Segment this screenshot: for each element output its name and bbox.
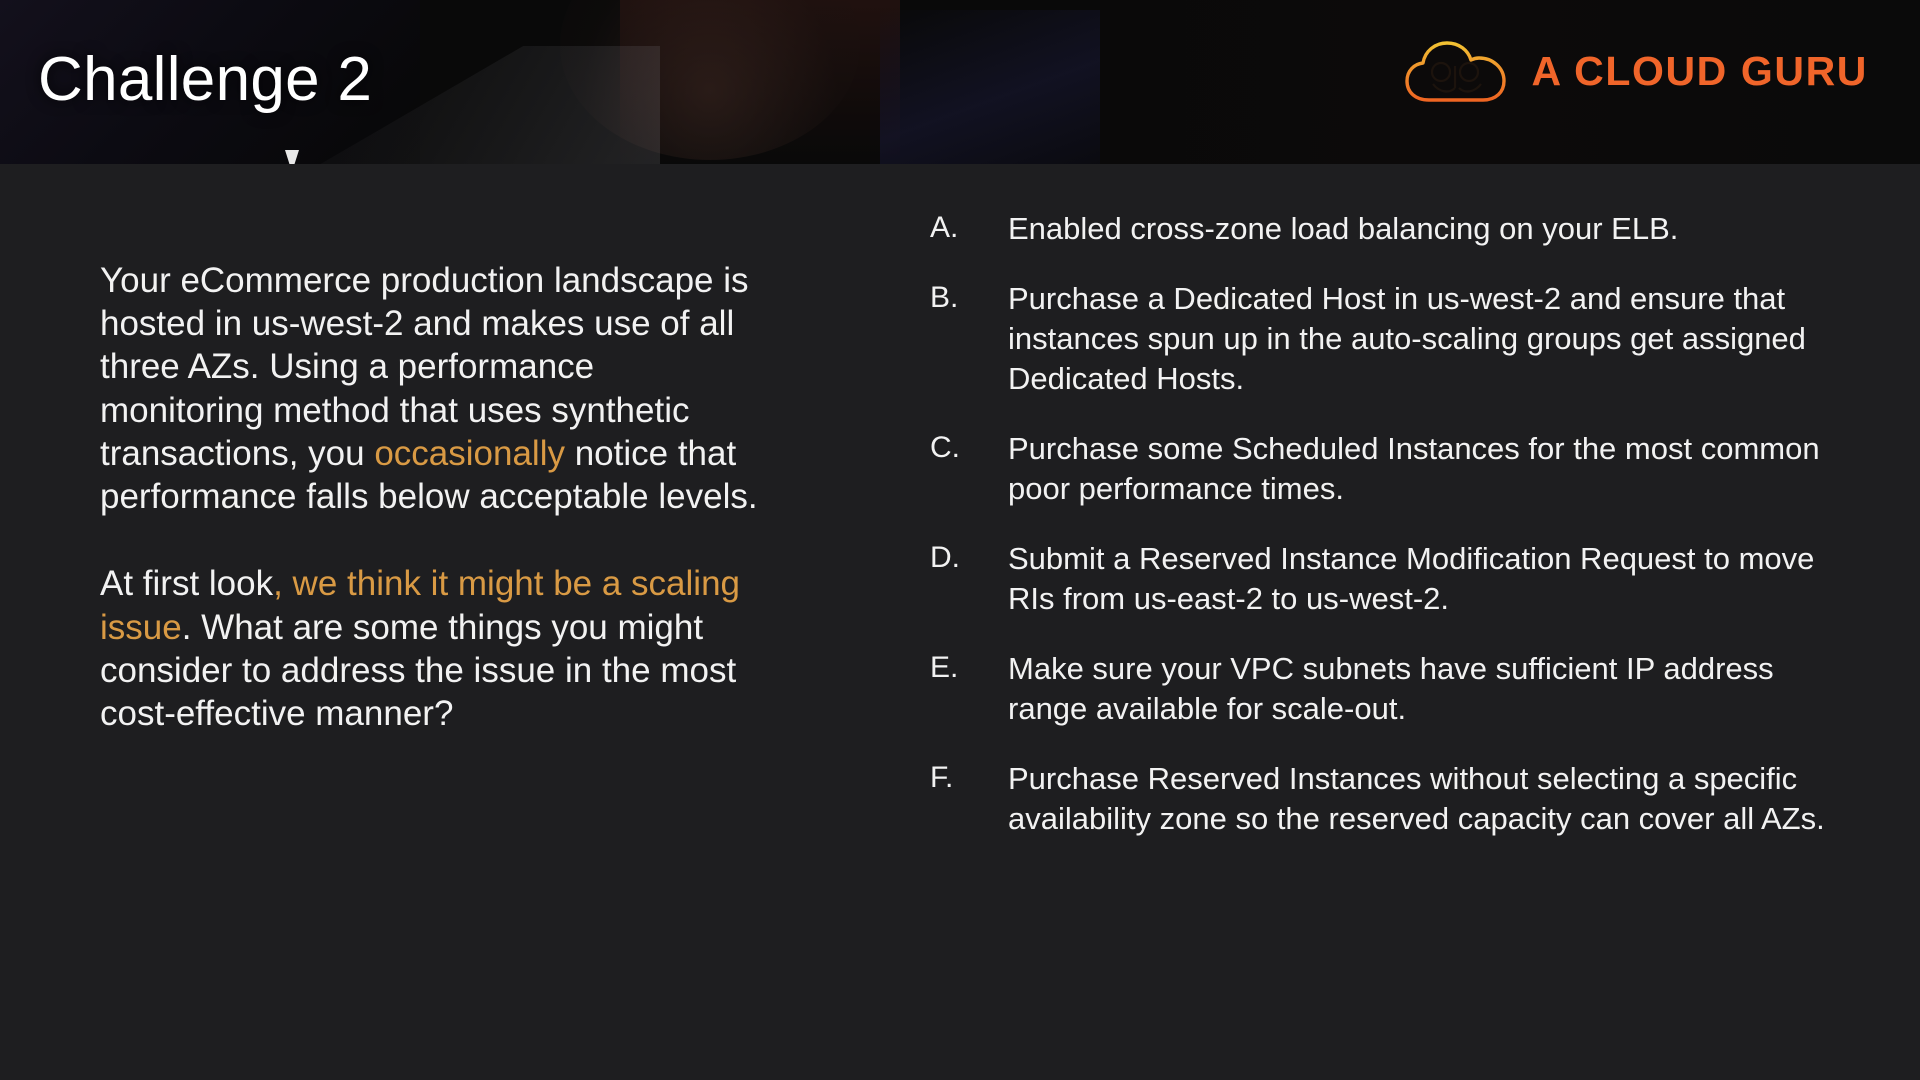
answer-options-list: A. Enabled cross-zone load balancing on … [930, 209, 1850, 869]
list-item[interactable]: B. Purchase a Dedicated Host in us-west-… [930, 279, 1850, 399]
list-item[interactable]: D. Submit a Reserved Instance Modificati… [930, 539, 1850, 619]
option-letter: C. [930, 429, 1008, 468]
list-item[interactable]: A. Enabled cross-zone load balancing on … [930, 209, 1850, 249]
slide-header-video-band: Challenge 2 A [0, 0, 1920, 164]
logo-wordmark: A CLOUD GURU [1531, 48, 1868, 95]
list-item[interactable]: C. Purchase some Scheduled Instances for… [930, 429, 1850, 509]
slide-body: Your eCommerce production landscape is h… [0, 164, 1920, 1080]
option-text: Enabled cross-zone load balancing on you… [1008, 209, 1850, 249]
presentation-slide: Challenge 2 A [0, 0, 1920, 1080]
option-text: Submit a Reserved Instance Modification … [1008, 539, 1850, 619]
option-letter: E. [930, 649, 1008, 688]
option-text: Purchase Reserved Instances without sele… [1008, 759, 1850, 839]
scenario-column: Your eCommerce production landscape is h… [100, 259, 760, 735]
option-letter: A. [930, 209, 1008, 248]
list-item[interactable]: E. Make sure your VPC subnets have suffi… [930, 649, 1850, 729]
option-letter: D. [930, 539, 1008, 578]
cloud-icon [1403, 38, 1509, 104]
paragraph-2-part-1: At first look [100, 564, 273, 603]
scenario-paragraph-1: Your eCommerce production landscape is h… [100, 259, 760, 518]
video-backdrop-blue [880, 10, 1110, 164]
option-text: Purchase some Scheduled Instances for th… [1008, 429, 1850, 509]
a-cloud-guru-logo: A CLOUD GURU [1403, 32, 1868, 110]
list-item[interactable]: F. Purchase Reserved Instances without s… [930, 759, 1850, 839]
slide-title: Challenge 2 [38, 44, 372, 115]
paragraph-1-highlight: occasionally [374, 434, 565, 473]
option-letter: B. [930, 279, 1008, 318]
scenario-paragraph-2: At first look, we think it might be a sc… [100, 562, 760, 735]
option-text: Purchase a Dedicated Host in us-west-2 a… [1008, 279, 1850, 399]
paragraph-2-part-2: . What are some things you might conside… [100, 608, 736, 733]
option-letter: F. [930, 759, 1008, 798]
option-text: Make sure your VPC subnets have sufficie… [1008, 649, 1850, 729]
